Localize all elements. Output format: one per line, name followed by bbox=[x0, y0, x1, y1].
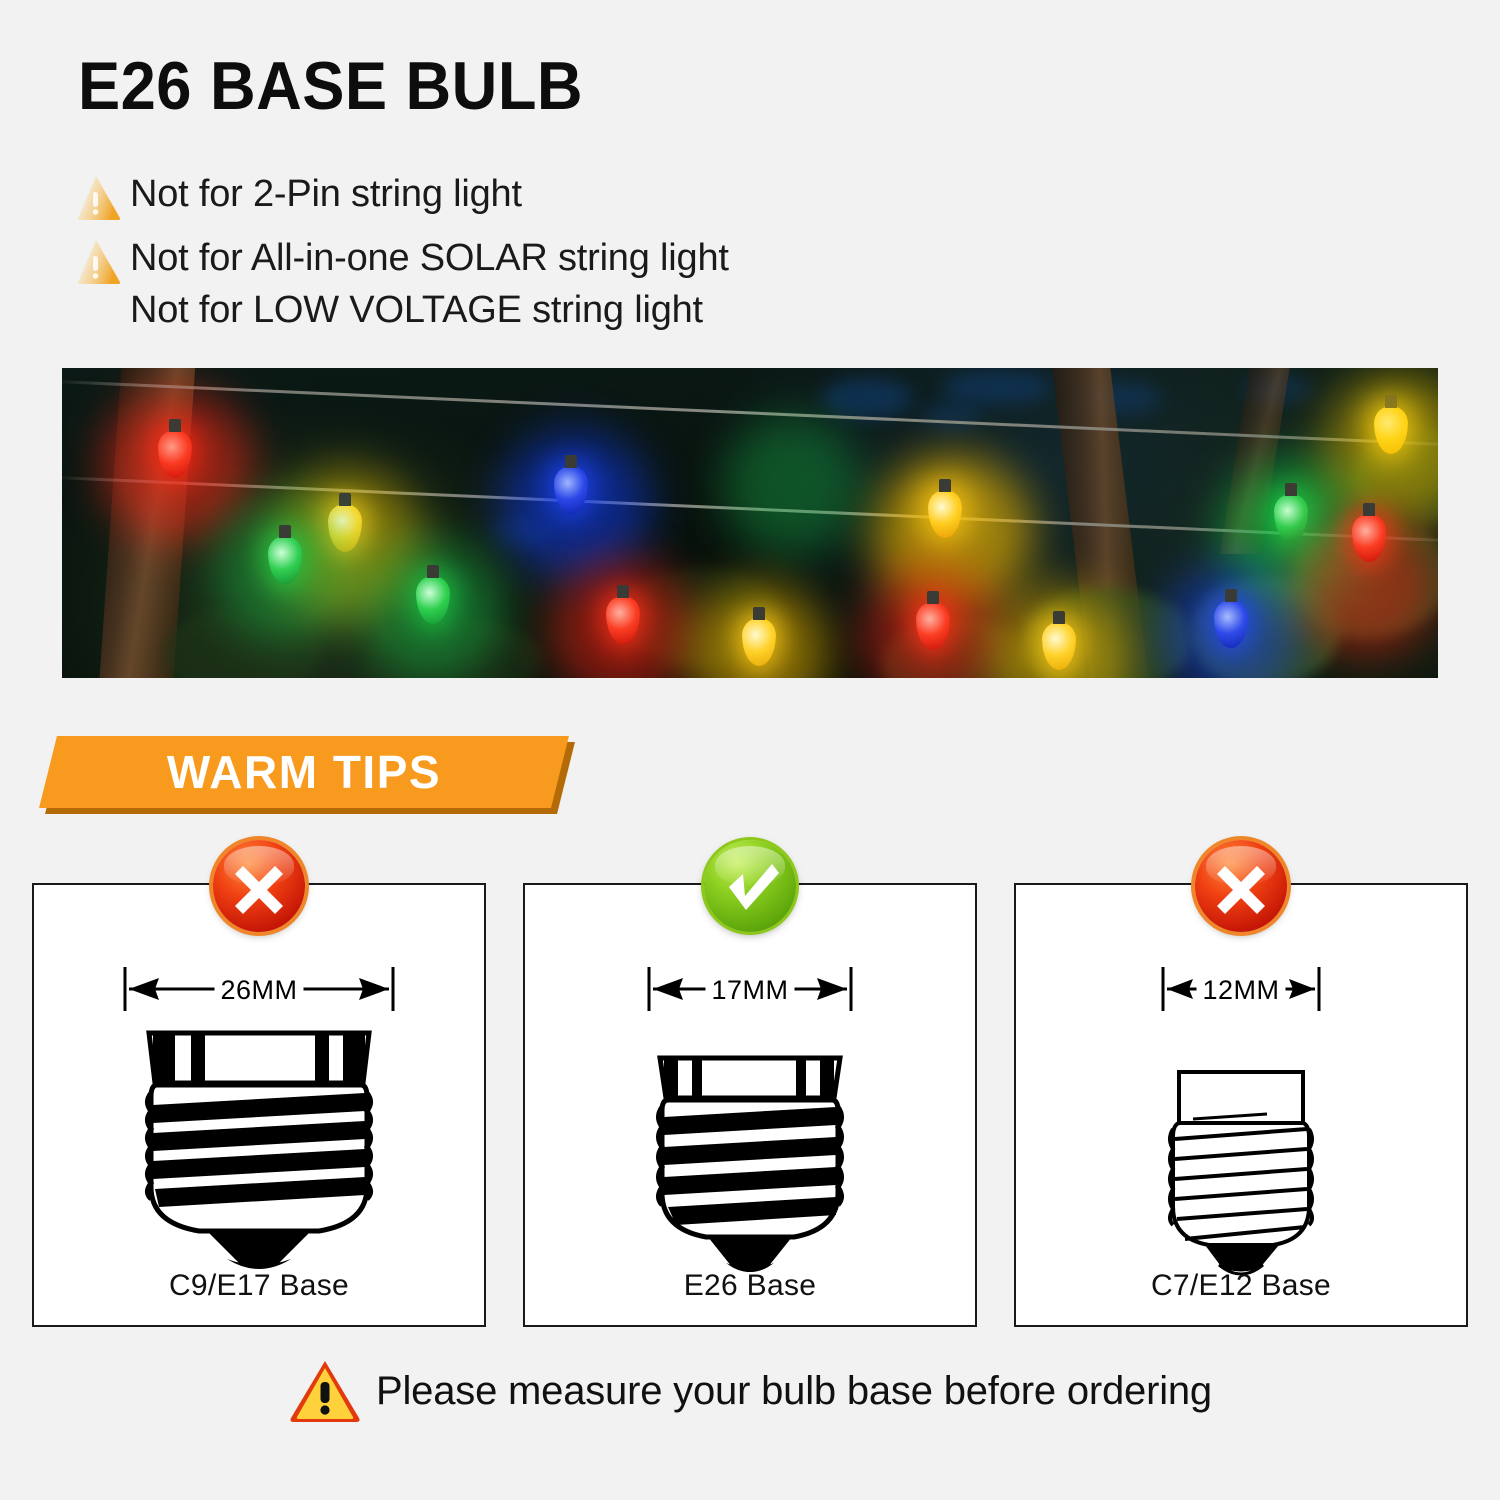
warning-line: Not for All-in-one SOLAR string light bbox=[130, 232, 729, 284]
list-item: Not for All-in-one SOLAR string light No… bbox=[68, 232, 1408, 337]
warning-triangle-exclamation-icon bbox=[288, 1358, 362, 1424]
red-x-icon bbox=[213, 840, 305, 932]
dimension-value: 12MM bbox=[1196, 975, 1285, 1006]
panel-label: E26 Base bbox=[525, 1269, 975, 1303]
bulb-base-drawing-c9-e17 bbox=[129, 1027, 389, 1272]
warm-tips-banner: WARM TIPS bbox=[36, 736, 566, 814]
green-check-icon bbox=[704, 840, 796, 932]
outdoor-string-lights-night-photo bbox=[62, 368, 1438, 678]
banner-body: WARM TIPS bbox=[39, 736, 569, 808]
banner-label: WARM TIPS bbox=[48, 736, 560, 808]
panel-label: C7/E12 Base bbox=[1016, 1269, 1466, 1303]
warning-list: Not for 2-Pin string light Not for All-i… bbox=[68, 168, 1408, 347]
bulb-base-comparison: 26MM bbox=[32, 883, 1468, 1327]
dimension-line: 26MM bbox=[121, 963, 397, 1015]
bulb-base-panel-c7-e12: 12MM bbox=[1014, 883, 1468, 1327]
footer-text: Please measure your bulb base before ord… bbox=[376, 1369, 1212, 1414]
bulb-base-panel-c9-e17: 26MM bbox=[32, 883, 486, 1327]
warning-triangle-icon bbox=[68, 236, 130, 286]
infographic-page: E26 BASE BULB bbox=[0, 0, 1500, 1500]
bulb-base-drawing-e26 bbox=[642, 1053, 858, 1275]
dimension-line: 12MM bbox=[1159, 963, 1323, 1015]
list-item: Not for 2-Pin string light bbox=[68, 168, 1408, 222]
warning-line: Not for LOW VOLTAGE string light bbox=[130, 284, 729, 336]
warning-line: Not for 2-Pin string light bbox=[130, 168, 522, 220]
sky-patch bbox=[922, 402, 982, 430]
dimension-value: 26MM bbox=[214, 975, 303, 1006]
bulb-base-panel-e26: 17MM bbox=[523, 883, 977, 1327]
dimension-line: 17MM bbox=[645, 963, 855, 1015]
footer-note: Please measure your bulb base before ord… bbox=[0, 1358, 1500, 1424]
dimension-value: 17MM bbox=[705, 975, 794, 1006]
bulb-base-drawing-c7-e12 bbox=[1163, 1067, 1319, 1279]
page-title: E26 BASE BULB bbox=[78, 52, 583, 120]
sky-patch bbox=[942, 370, 1052, 404]
sky-patch bbox=[492, 518, 552, 544]
warning-triangle-icon bbox=[68, 172, 130, 222]
red-x-icon bbox=[1195, 840, 1287, 932]
panel-label: C9/E17 Base bbox=[34, 1269, 484, 1303]
sky-patch bbox=[822, 378, 912, 418]
